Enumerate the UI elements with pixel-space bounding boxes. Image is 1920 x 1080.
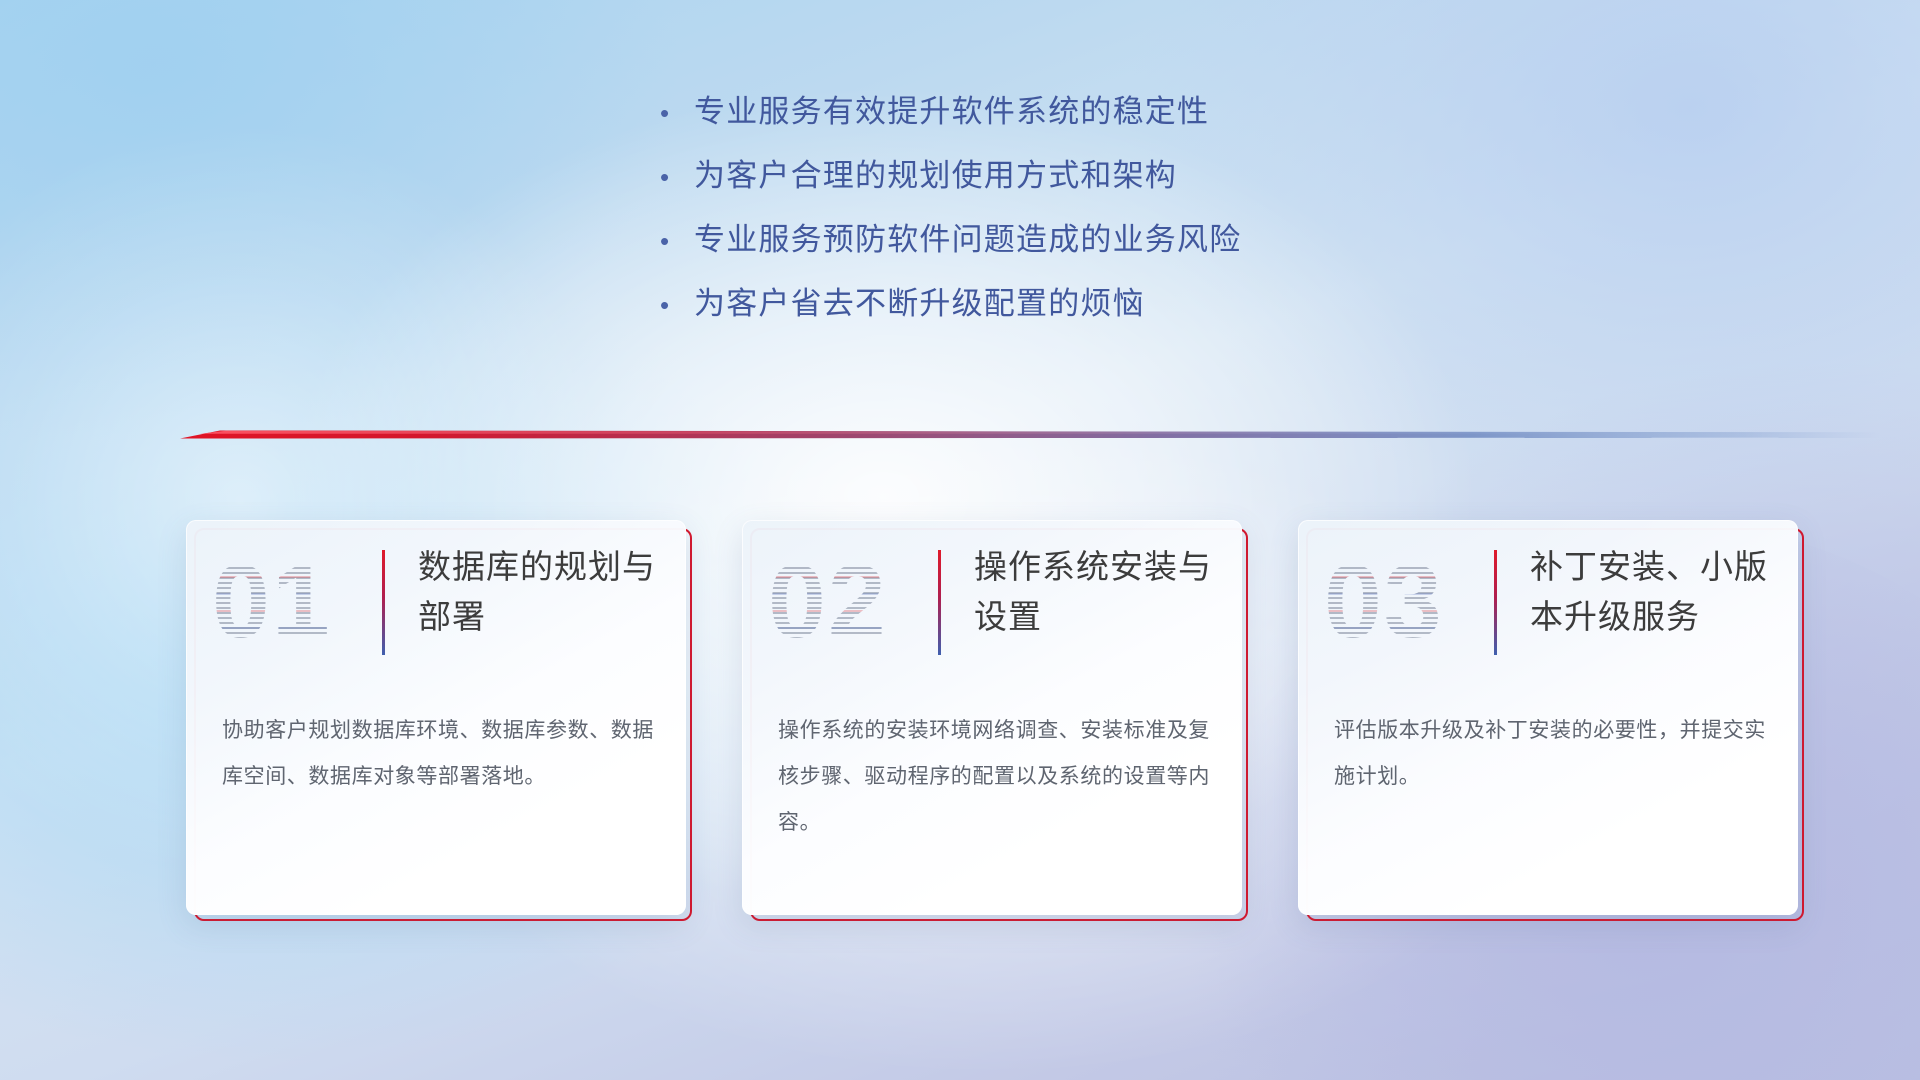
card-title: 补丁安装、小版本升级服务 xyxy=(1530,542,1776,642)
card-divider-bar xyxy=(382,550,385,655)
bullet-item: • 为客户合理的规划使用方式和架构 xyxy=(660,160,1560,224)
bullet-marker-icon: • xyxy=(660,100,694,126)
card-header: 01 01 数据库的规划与部署 xyxy=(186,520,686,670)
card-title: 数据库的规划与部署 xyxy=(418,542,664,642)
bullet-text: 专业服务预防软件问题造成的业务风险 xyxy=(694,224,1241,255)
bullet-text: 专业服务有效提升软件系统的稳定性 xyxy=(694,96,1209,127)
section-divider xyxy=(180,418,1880,448)
slide-canvas: • 专业服务有效提升软件系统的稳定性 • 为客户合理的规划使用方式和架构 • 专… xyxy=(0,0,1920,1080)
card-description: 操作系统的安装环境网络调查、安装标准及复核步骤、驱动程序的配置以及系统的设置等内… xyxy=(778,708,1210,846)
service-card[interactable]: 02 02 操作系统安装与设置 操作系统的安装环境网络调查、安装标准及复核步骤、… xyxy=(742,520,1242,915)
card-number-watermark: 01 xyxy=(212,542,362,662)
bullet-marker-icon: • xyxy=(660,164,694,190)
card-header: 02 02 操作系统安装与设置 xyxy=(742,520,1242,670)
card-panel: 03 03 补丁安装、小版本升级服务 评估版本升级及补丁安装的必要性，并提交实施… xyxy=(1298,520,1798,915)
benefits-bullet-list: • 专业服务有效提升软件系统的稳定性 • 为客户合理的规划使用方式和架构 • 专… xyxy=(660,96,1560,352)
card-header: 03 03 补丁安装、小版本升级服务 xyxy=(1298,520,1798,670)
card-panel: 01 01 数据库的规划与部署 协助客户规划数据库环境、数据库参数、数据库空间、… xyxy=(186,520,686,915)
bullet-item: • 为客户省去不断升级配置的烦恼 xyxy=(660,288,1560,352)
card-title: 操作系统安装与设置 xyxy=(974,542,1220,642)
card-panel: 02 02 操作系统安装与设置 操作系统的安装环境网络调查、安装标准及复核步骤、… xyxy=(742,520,1242,915)
bullet-item: • 专业服务预防软件问题造成的业务风险 xyxy=(660,224,1560,288)
service-cards: 01 01 数据库的规划与部署 协助客户规划数据库环境、数据库参数、数据库空间、… xyxy=(186,520,1826,920)
service-card[interactable]: 03 03 补丁安装、小版本升级服务 评估版本升级及补丁安装的必要性，并提交实施… xyxy=(1298,520,1798,915)
card-divider-bar xyxy=(1494,550,1497,655)
bullet-text: 为客户省去不断升级配置的烦恼 xyxy=(694,288,1145,319)
card-number-watermark: 03 xyxy=(1324,542,1474,662)
card-description: 评估版本升级及补丁安装的必要性，并提交实施计划。 xyxy=(1334,708,1766,800)
bullet-marker-icon: • xyxy=(660,228,694,254)
bullet-marker-icon: • xyxy=(660,292,694,318)
service-card[interactable]: 01 01 数据库的规划与部署 协助客户规划数据库环境、数据库参数、数据库空间、… xyxy=(186,520,686,915)
bullet-item: • 专业服务有效提升软件系统的稳定性 xyxy=(660,96,1560,160)
card-divider-bar xyxy=(938,550,941,655)
bullet-text: 为客户合理的规划使用方式和架构 xyxy=(694,160,1177,191)
card-number-watermark: 02 xyxy=(768,542,918,662)
card-description: 协助客户规划数据库环境、数据库参数、数据库空间、数据库对象等部署落地。 xyxy=(222,708,654,800)
